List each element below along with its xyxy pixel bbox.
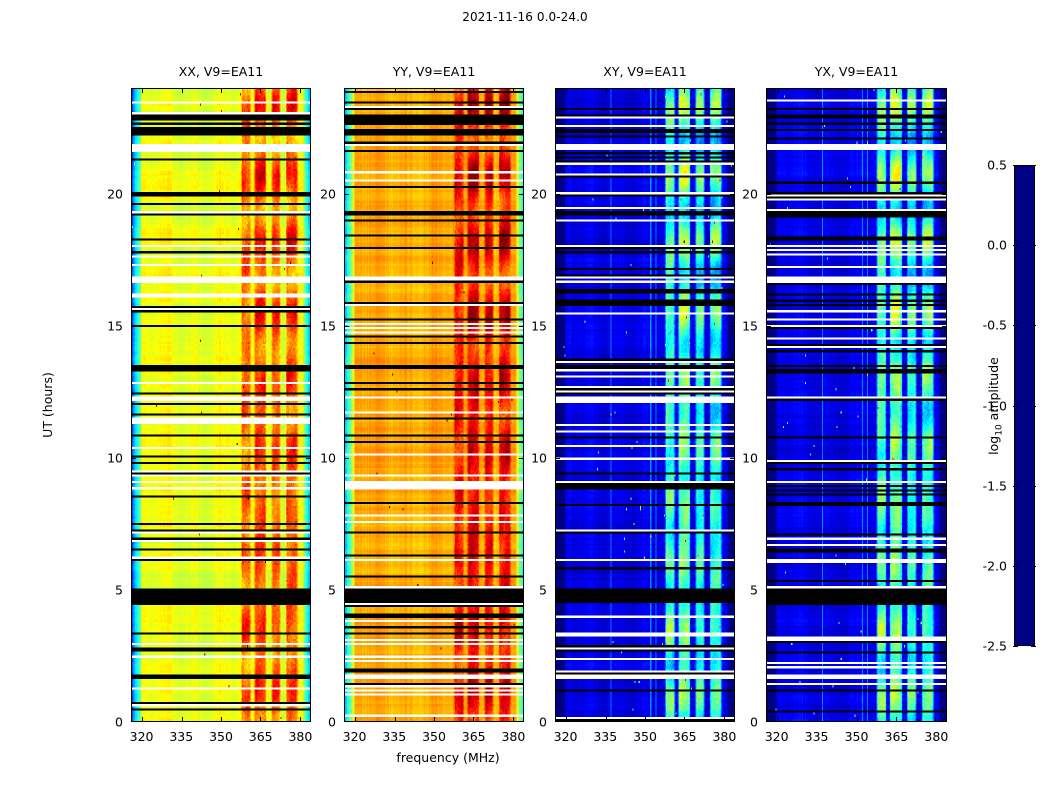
y-tick-label: 20 xyxy=(742,186,758,201)
y-tick xyxy=(730,721,735,722)
x-tick xyxy=(300,88,301,93)
colorbar-label-subscript: 10 xyxy=(995,424,1005,435)
x-tick-label: 335 xyxy=(805,729,829,744)
x-tick xyxy=(182,88,183,93)
y-tick xyxy=(942,194,947,195)
x-tick-label: 350 xyxy=(209,729,233,744)
x-tick-label: 320 xyxy=(130,729,154,744)
x-tick xyxy=(182,717,183,722)
y-tick xyxy=(942,326,947,327)
colorbar-tick xyxy=(1031,406,1036,407)
colorbar-tick xyxy=(1031,245,1036,246)
y-tick xyxy=(131,589,136,590)
x-tick-label: 350 xyxy=(633,729,657,744)
x-tick xyxy=(513,88,514,93)
y-tick xyxy=(766,458,771,459)
y-tick xyxy=(730,589,735,590)
colorbar-tick xyxy=(1013,165,1018,166)
colorbar-tick xyxy=(1013,406,1018,407)
y-tick xyxy=(555,326,560,327)
heatmap-yx xyxy=(767,89,946,721)
colorbar-tick xyxy=(1031,325,1036,326)
x-tick xyxy=(221,88,222,93)
x-tick-label: 365 xyxy=(884,729,908,744)
x-tick xyxy=(645,88,646,93)
x-tick xyxy=(395,88,396,93)
x-tick-label: 380 xyxy=(924,729,948,744)
x-tick xyxy=(566,88,567,93)
colorbar-label-main: log xyxy=(986,435,1001,454)
colorbar-tick xyxy=(1031,566,1036,567)
x-tick-label: 335 xyxy=(382,729,406,744)
x-tick xyxy=(896,717,897,722)
y-tick xyxy=(344,589,349,590)
y-tick xyxy=(730,458,735,459)
y-tick xyxy=(942,589,947,590)
panel-title-xx: XX, V9=EA11 xyxy=(131,64,311,79)
colorbar-tick xyxy=(1013,245,1018,246)
x-tick xyxy=(355,717,356,722)
x-tick xyxy=(684,88,685,93)
x-tick xyxy=(434,717,435,722)
x-tick xyxy=(817,717,818,722)
y-tick xyxy=(344,721,349,722)
y-tick-label: 5 xyxy=(750,582,758,597)
x-tick xyxy=(857,717,858,722)
y-tick-label: 5 xyxy=(328,582,336,597)
x-tick-label: 320 xyxy=(343,729,367,744)
y-tick-label: 0 xyxy=(115,715,123,730)
panel-yx: YX, V9=EA1132033535036538005101520 xyxy=(766,88,947,722)
x-tick xyxy=(606,88,607,93)
x-tick xyxy=(142,717,143,722)
x-tick xyxy=(566,717,567,722)
colorbar-tick xyxy=(1031,646,1036,647)
x-tick-label: 320 xyxy=(765,729,789,744)
x-axis-label: frequency (MHz) xyxy=(396,750,499,765)
panel-xx: XX, V9=EA1132033535036538005101520 xyxy=(131,88,311,722)
y-tick xyxy=(766,194,771,195)
figure-canvas: 2021-11-16 0.0-24.0 UT (hours) frequency… xyxy=(0,0,1050,800)
y-tick xyxy=(519,589,524,590)
y-tick xyxy=(519,326,524,327)
x-tick xyxy=(221,717,222,722)
panel-title-yy: YY, V9=EA11 xyxy=(344,64,524,79)
y-tick xyxy=(555,194,560,195)
colorbar-tick-label: -0.5 xyxy=(983,318,1007,333)
y-tick xyxy=(344,458,349,459)
y-tick-label: 0 xyxy=(750,715,758,730)
y-tick xyxy=(730,326,735,327)
y-tick-label: 15 xyxy=(107,318,123,333)
x-tick-label: 380 xyxy=(288,729,312,744)
y-tick xyxy=(131,194,136,195)
x-tick-label: 380 xyxy=(501,729,525,744)
x-tick-label: 320 xyxy=(554,729,578,744)
x-tick xyxy=(606,717,607,722)
x-tick xyxy=(778,717,779,722)
y-tick xyxy=(344,194,349,195)
y-tick-label: 0 xyxy=(328,715,336,730)
y-tick-label: 10 xyxy=(320,450,336,465)
x-tick-label: 365 xyxy=(673,729,697,744)
x-tick xyxy=(473,88,474,93)
x-tick xyxy=(395,717,396,722)
x-tick xyxy=(260,717,261,722)
y-tick-label: 10 xyxy=(742,450,758,465)
colorbar-tick-label: 0.5 xyxy=(987,158,1007,173)
y-tick-label: 15 xyxy=(320,318,336,333)
x-tick-label: 350 xyxy=(422,729,446,744)
x-tick xyxy=(434,88,435,93)
colorbar-ticks: -2.5-2.0-1.5-1.0-0.50.00.5 xyxy=(1014,165,1035,646)
y-tick-label: 20 xyxy=(107,186,123,201)
x-tick-label: 365 xyxy=(462,729,486,744)
heatmap-xx xyxy=(132,89,310,721)
colorbar-tick xyxy=(1013,325,1018,326)
colorbar-tick xyxy=(1031,165,1036,166)
x-tick xyxy=(935,88,936,93)
x-tick-label: 365 xyxy=(249,729,273,744)
x-tick xyxy=(260,88,261,93)
x-tick xyxy=(645,717,646,722)
heatmap-yy xyxy=(345,89,523,721)
colorbar-tick-label: 0.0 xyxy=(987,238,1007,253)
x-tick xyxy=(935,717,936,722)
colorbar-tick-label: -2.0 xyxy=(983,558,1007,573)
y-tick-label: 10 xyxy=(107,450,123,465)
y-tick xyxy=(942,721,947,722)
y-tick xyxy=(344,326,349,327)
x-tick xyxy=(857,88,858,93)
panel-title-yx: YX, V9=EA11 xyxy=(766,64,947,79)
y-tick xyxy=(519,194,524,195)
y-tick xyxy=(730,194,735,195)
x-tick xyxy=(300,717,301,722)
x-tick xyxy=(684,717,685,722)
y-tick xyxy=(766,589,771,590)
axes-yy[interactable] xyxy=(344,88,524,722)
panel-title-xy: XY, V9=EA11 xyxy=(555,64,735,79)
y-tick xyxy=(131,458,136,459)
colorbar-tick-label: -1.5 xyxy=(983,478,1007,493)
colorbar-tick xyxy=(1013,646,1018,647)
colorbar-tick xyxy=(1031,486,1036,487)
colorbar-label: log10 amplitude xyxy=(986,357,1005,455)
axes-xx[interactable] xyxy=(131,88,311,722)
y-axis-label: UT (hours) xyxy=(40,372,55,438)
heatmap-xy xyxy=(556,89,734,721)
x-tick xyxy=(355,88,356,93)
y-tick-label: 10 xyxy=(531,450,547,465)
x-tick-label: 335 xyxy=(169,729,193,744)
y-tick-label: 20 xyxy=(531,186,547,201)
x-tick xyxy=(896,88,897,93)
y-tick xyxy=(519,721,524,722)
x-tick-label: 335 xyxy=(593,729,617,744)
y-tick-label: 5 xyxy=(115,582,123,597)
y-tick xyxy=(766,326,771,327)
y-tick-label: 20 xyxy=(320,186,336,201)
colorbar-tick xyxy=(1013,486,1018,487)
y-tick xyxy=(519,458,524,459)
colorbar-label-tail: amplitude xyxy=(986,357,1001,424)
y-tick xyxy=(306,458,311,459)
y-tick xyxy=(942,458,947,459)
colorbar-tick-label: -2.5 xyxy=(983,639,1007,654)
y-tick xyxy=(131,326,136,327)
y-tick xyxy=(555,589,560,590)
y-tick xyxy=(555,458,560,459)
axes-xy[interactable] xyxy=(555,88,735,722)
figure-suptitle: 2021-11-16 0.0-24.0 xyxy=(0,10,1050,24)
x-tick-label: 380 xyxy=(712,729,736,744)
axes-yx[interactable] xyxy=(766,88,947,722)
y-tick xyxy=(131,721,136,722)
x-tick-label: 350 xyxy=(845,729,869,744)
y-tick xyxy=(306,589,311,590)
x-tick xyxy=(817,88,818,93)
y-tick-label: 15 xyxy=(531,318,547,333)
x-tick xyxy=(724,717,725,722)
y-tick-label: 5 xyxy=(539,582,547,597)
x-tick xyxy=(778,88,779,93)
panel-xy: XY, V9=EA1132033535036538005101520 xyxy=(555,88,735,722)
y-tick-label: 15 xyxy=(742,318,758,333)
y-tick xyxy=(306,194,311,195)
y-tick xyxy=(555,721,560,722)
x-tick xyxy=(724,88,725,93)
panel-yy: YY, V9=EA1132033535036538005101520 xyxy=(344,88,524,722)
x-tick xyxy=(513,717,514,722)
y-tick xyxy=(306,721,311,722)
y-tick xyxy=(306,326,311,327)
colorbar-tick xyxy=(1013,566,1018,567)
y-tick-label: 0 xyxy=(539,715,547,730)
y-tick xyxy=(766,721,771,722)
x-tick xyxy=(142,88,143,93)
x-tick xyxy=(473,717,474,722)
